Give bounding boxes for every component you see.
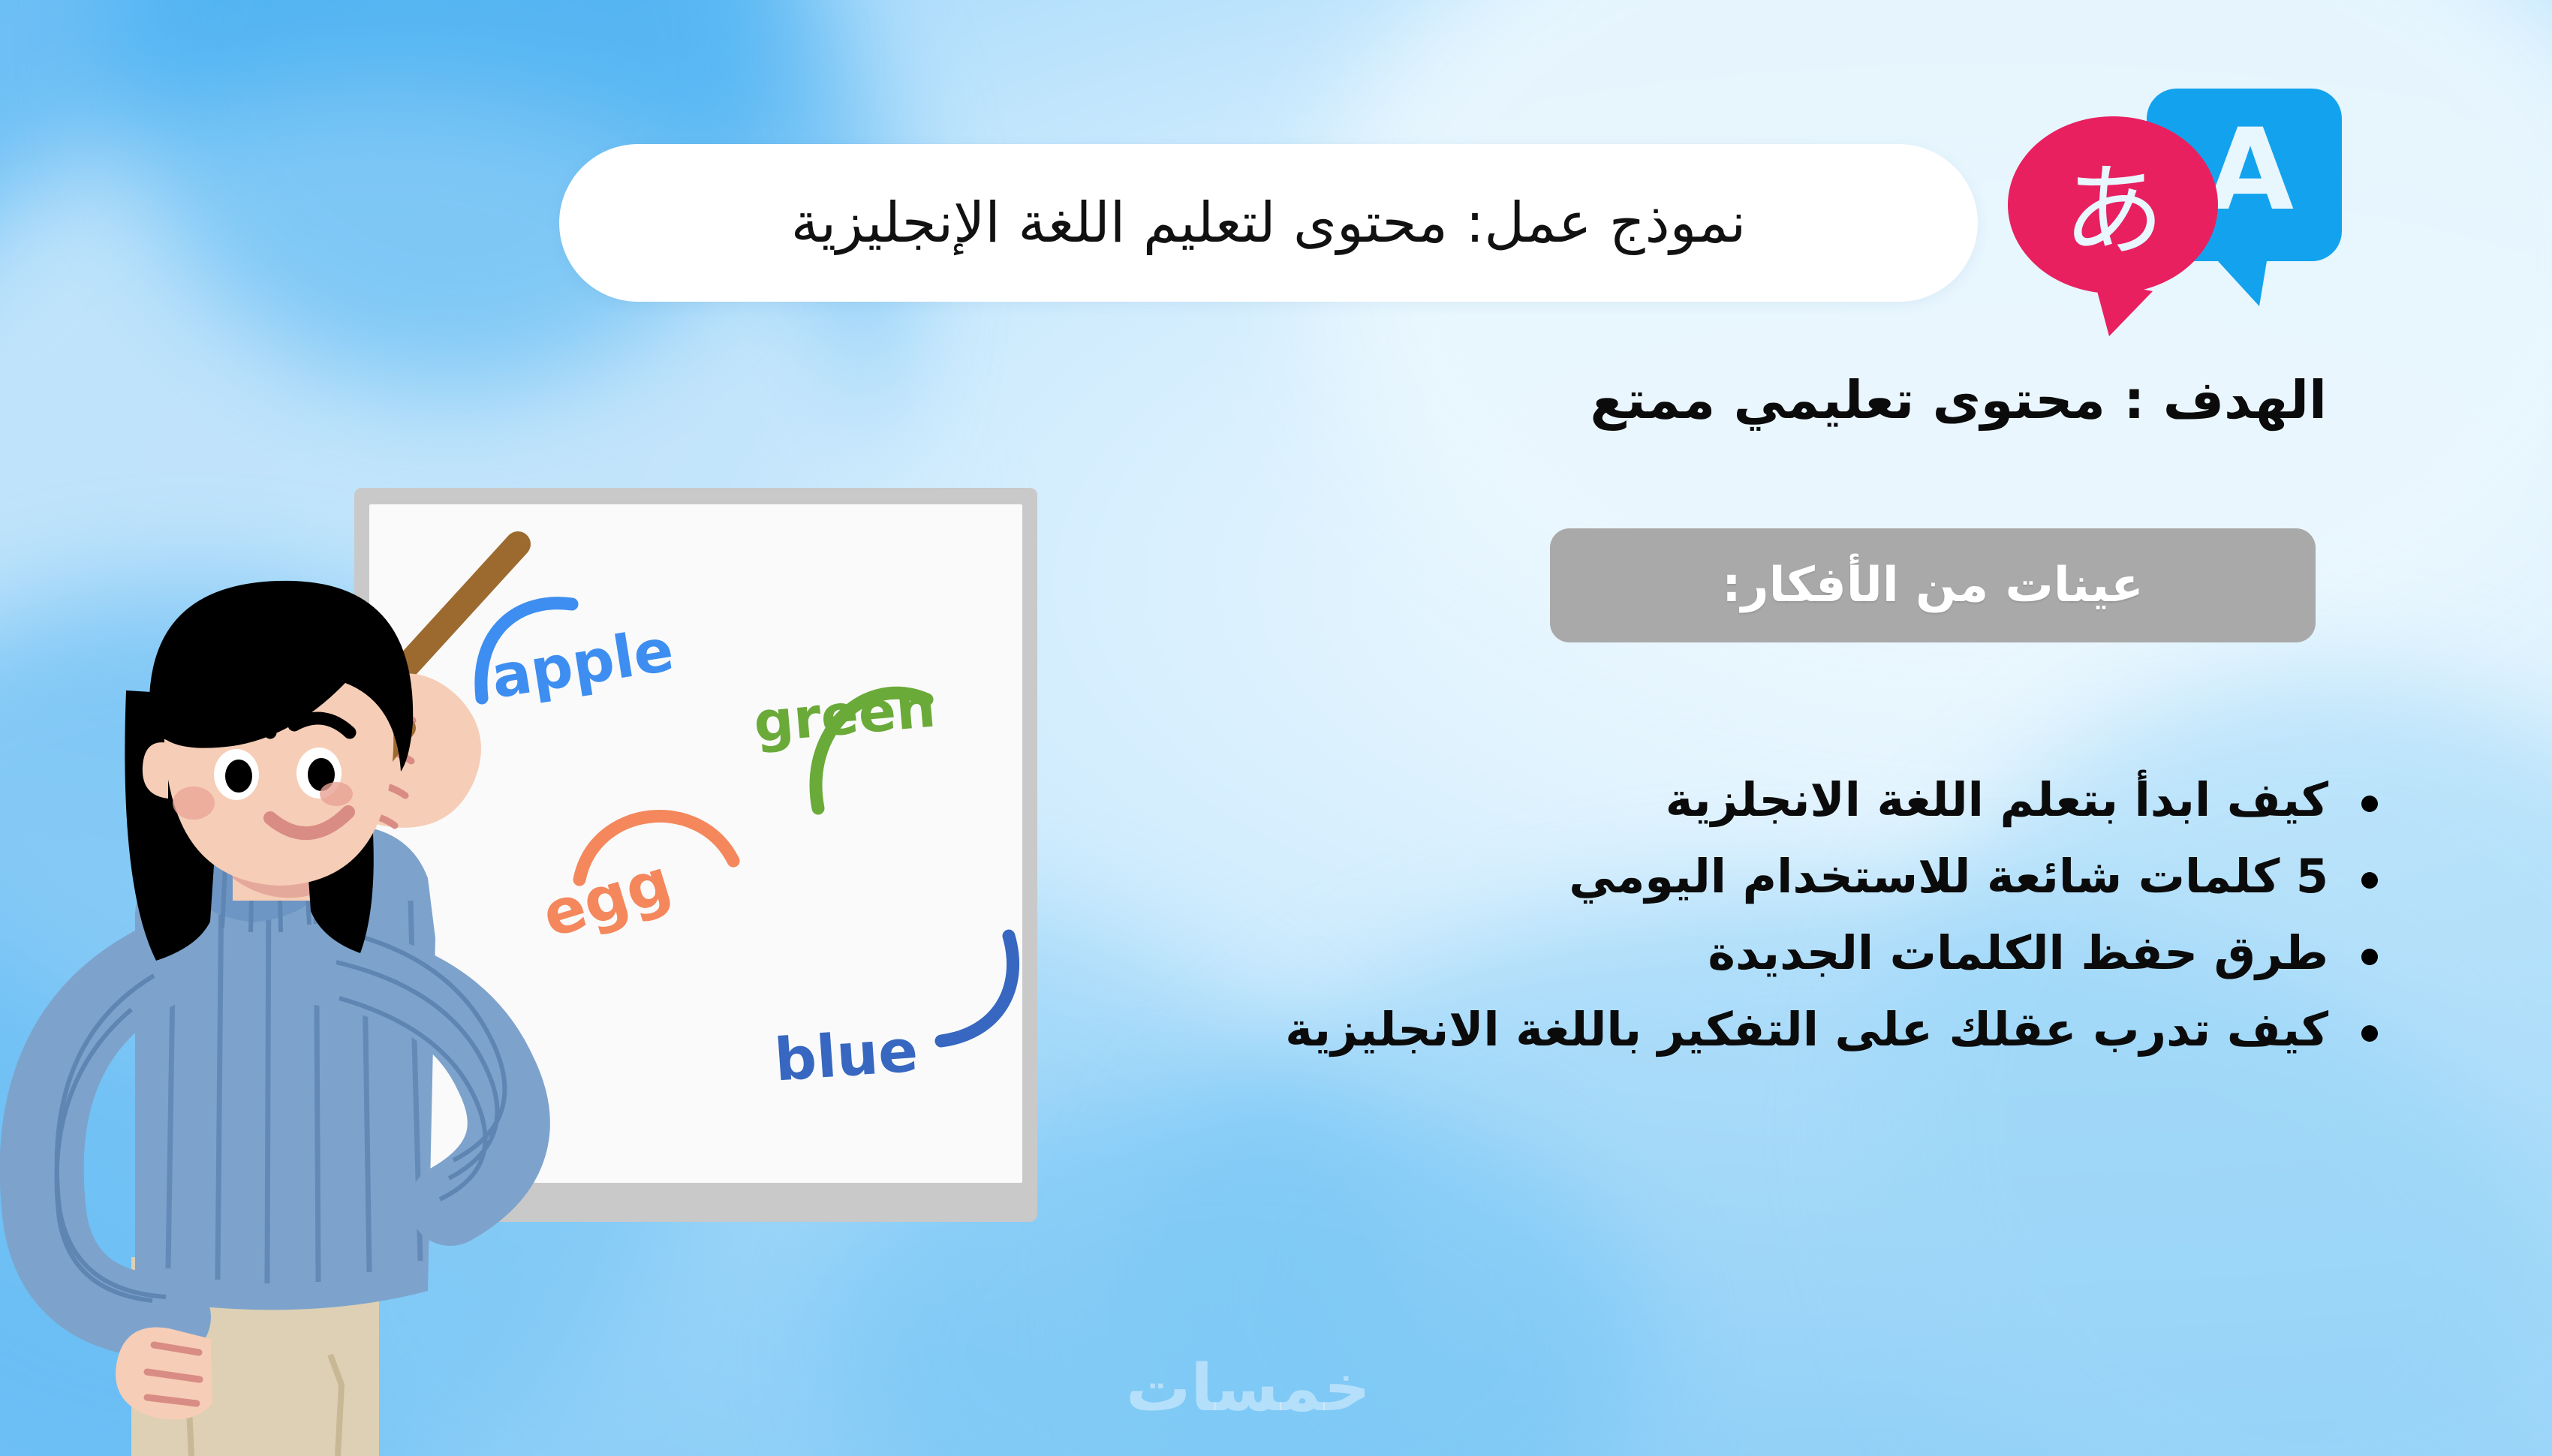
bullet-dot-icon (2361, 872, 2378, 889)
page-title: نموذج عمل: محتوى لتعليم اللغة الإنجليزية (791, 191, 1746, 255)
watermark: خمسات (1126, 1351, 1371, 1426)
language-bubbles-logo: A あ (1989, 66, 2349, 366)
bullet-dot-icon (2361, 1025, 2378, 1042)
list-item-label: كيف تدرب عقلك على التفكير باللغة الانجلي… (1285, 995, 2328, 1064)
goal-heading: الهدف : محتوى تعليمي ممتع (1590, 369, 2327, 431)
ideas-bullet-list: كيف ابدأ بتعلم اللغة الانجلزية 5 كلمات ش… (877, 766, 2378, 1064)
bubble-letter-hiragana: あ (2063, 152, 2165, 270)
list-item: كيف تدرب عقلك على التفكير باللغة الانجلي… (877, 995, 2378, 1064)
speech-bubble-pink-icon: あ (2008, 116, 2218, 336)
bullet-dot-icon (2361, 949, 2378, 965)
cheek-left (173, 787, 215, 820)
list-item-label: طرق حفظ الكلمات الجديدة (1708, 919, 2328, 988)
bubble-letter-a: A (2207, 105, 2294, 236)
bullet-dot-icon (2361, 796, 2378, 812)
list-item: طرق حفظ الكلمات الجديدة (877, 919, 2378, 988)
arc-darkblue-icon (926, 921, 1022, 1056)
board-word-blue: blue (772, 1017, 920, 1094)
list-item: 5 كلمات شائعة للاستخدام اليومي (877, 842, 2378, 911)
list-item-label: 5 كلمات شائعة للاستخدام اليومي (1569, 842, 2328, 911)
list-item-label: كيف ابدأ بتعلم اللغة الانجلزية (1666, 766, 2328, 835)
ideas-badge-label: عينات من الأفكار: (1722, 558, 2144, 613)
teacher-illustration (0, 578, 570, 1456)
ideas-section-badge: عينات من الأفكار: (1550, 528, 2316, 642)
list-item: كيف ابدأ بتعلم اللغة الانجلزية (877, 766, 2378, 835)
cheek-right (320, 782, 353, 806)
title-pill: نموذج عمل: محتوى لتعليم اللغة الإنجليزية (559, 144, 1978, 302)
